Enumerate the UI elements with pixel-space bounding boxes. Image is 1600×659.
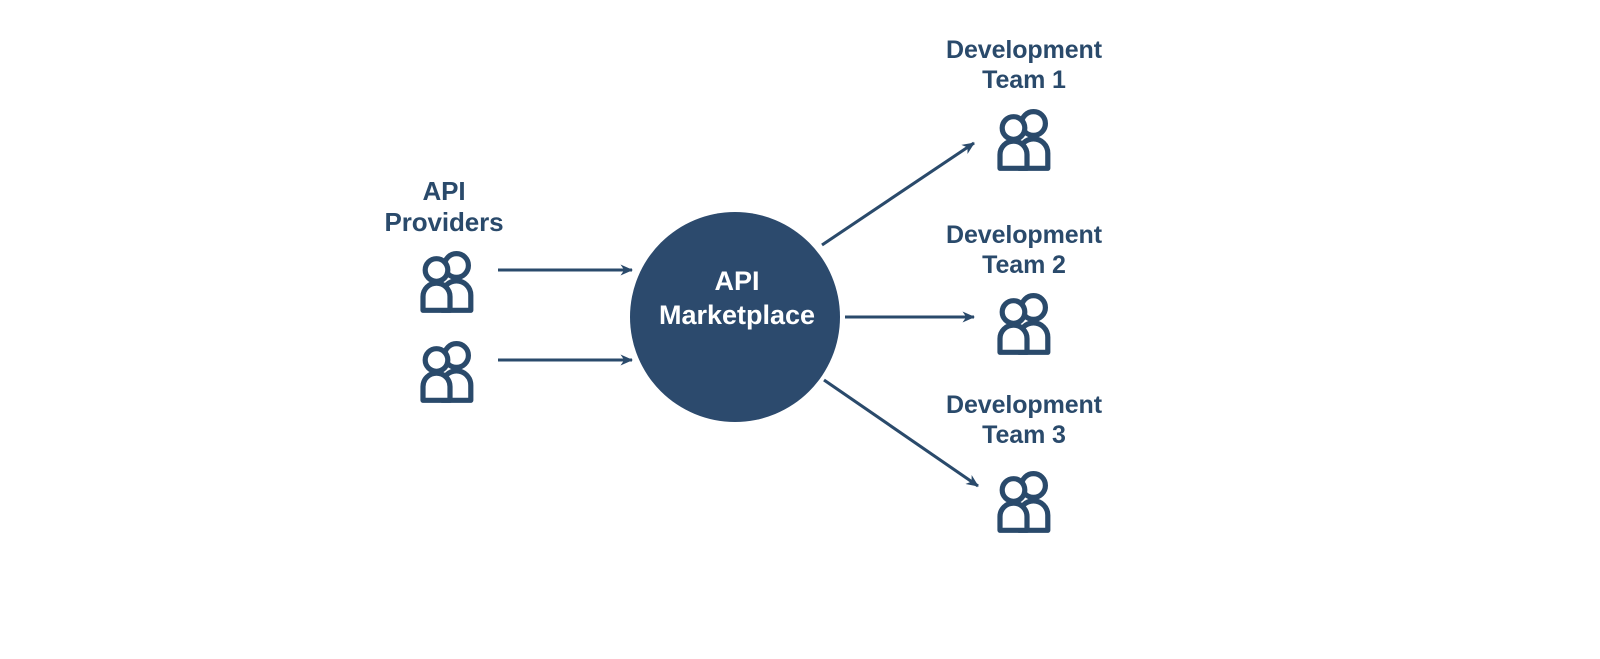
people-group-icon [423, 254, 471, 311]
people-group-icon [1000, 112, 1048, 169]
api-marketplace-label: API Marketplace [635, 264, 839, 333]
api-providers-label: API Providers [344, 176, 544, 237]
people-group-icon [423, 344, 471, 401]
development-team-1-label: Development Team 1 [894, 36, 1154, 95]
people-group-icon [1000, 474, 1048, 531]
people-group-icon [1000, 296, 1048, 353]
development-team-2-label: Development Team 2 [894, 221, 1154, 280]
diagram-canvas: API Providers API Marketplace Developmen… [0, 0, 1600, 659]
development-team-3-label: Development Team 3 [894, 391, 1154, 450]
